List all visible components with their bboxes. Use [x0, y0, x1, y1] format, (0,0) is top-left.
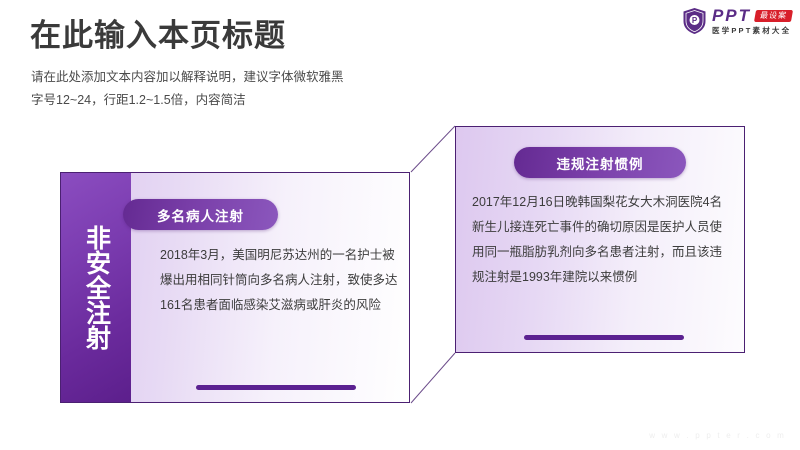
brand-tagline: 医学PPT素材大全	[712, 27, 792, 35]
card-left-body-text: 2018年3月，美国明尼苏达州的一名护士被爆出用相同针筒向多名病人注射，致使多达…	[160, 243, 398, 318]
card-left-sidebar-label: 非安全注射	[80, 225, 113, 350]
shield-icon: P	[682, 7, 707, 35]
brand-text-block: PPT 最设案 医学PPT素材大全	[712, 7, 792, 35]
card-right-body-text: 2017年12月16日晚韩国梨花女大木洞医院4名新生儿接连死亡事件的确切原因是医…	[472, 190, 732, 290]
card-right-pill-badge[interactable]: 违规注射惯例	[514, 147, 686, 178]
page-subtitle: 请在此处添加文本内容加以解释说明，建议字体微软雅黑 字号12~24，行距1.2~…	[31, 66, 344, 112]
card-left-sidebar: 非安全注射	[61, 173, 131, 402]
brand-name: PPT	[712, 7, 751, 24]
brand-row-top: PPT 最设案	[712, 7, 792, 24]
page-subtitle-line-1: 请在此处添加文本内容加以解释说明，建议字体微软雅黑	[31, 66, 344, 89]
svg-text:P: P	[692, 16, 698, 25]
brand-logo: P PPT 最设案 医学PPT素材大全	[682, 6, 792, 36]
brand-badge: 最设案	[754, 10, 793, 22]
page-title: 在此输入本页标题	[30, 18, 286, 54]
card-left-underline-rule	[196, 385, 356, 390]
site-watermark: w w w . p p t e r . c o m	[649, 431, 786, 440]
card-left-pill-badge[interactable]: 多名病人注射	[123, 199, 278, 230]
page-subtitle-line-2: 字号12~24，行距1.2~1.5倍，内容简洁	[31, 89, 344, 112]
card-right-underline-rule	[524, 335, 684, 340]
slide-canvas: 在此输入本页标题 请在此处添加文本内容加以解释说明，建议字体微软雅黑 字号12~…	[0, 0, 800, 450]
